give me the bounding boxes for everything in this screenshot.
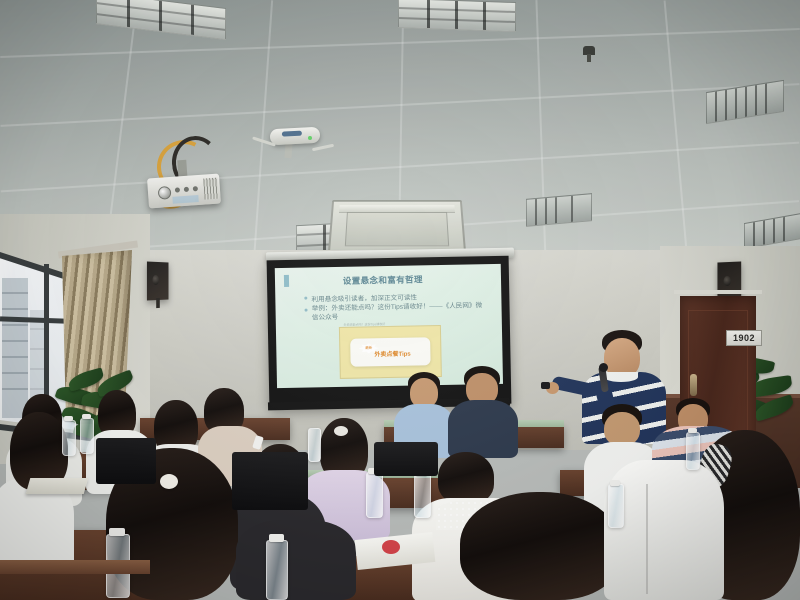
bottle-cap-6	[688, 428, 697, 433]
foreground-desk-surface	[0, 560, 150, 574]
wireless-access-point-icon	[270, 127, 321, 146]
water-bottle-3	[366, 472, 383, 518]
ceiling-air-vent-mid	[526, 193, 592, 227]
bottle-cap-2	[269, 534, 284, 542]
bottle-cap-8	[82, 414, 91, 419]
ceiling-air-vent-far-right	[744, 213, 800, 249]
shirt-seam	[646, 484, 648, 594]
ceiling-projector	[147, 174, 221, 209]
water-bottle-4	[414, 474, 431, 518]
wall-speaker-left	[147, 261, 169, 300]
water-bottle-8	[80, 418, 94, 454]
slide-bullet-1: 利用悬念吸引读者，加深正文可读性	[311, 292, 417, 304]
fire-sprinkler-icon	[583, 46, 595, 55]
chair-back-1	[232, 452, 308, 510]
slide-title: 设置悬念和富有哲理	[343, 274, 423, 288]
slide-figure-badge-text: 最新	[365, 346, 372, 351]
access-point-led	[308, 136, 312, 140]
building-far-1	[2, 278, 28, 418]
meeting-room-photo: 设置悬念和富有哲理 利用悬念吸引读者，加深正文可读性 举例：外卖还能点吗？这份T…	[0, 0, 800, 600]
slide-figure-card: 最新 外卖点餐Tips	[350, 337, 430, 367]
microphone-head-icon	[599, 363, 608, 372]
foreground-head-center	[460, 492, 620, 600]
room-number-sign: 1902	[726, 330, 762, 346]
notebook-on-desk	[26, 478, 89, 494]
water-bottle-5	[608, 484, 624, 528]
chair-back-3	[374, 442, 438, 476]
ceiling-light-top-center	[398, 0, 516, 32]
red-marker-icon	[382, 540, 400, 554]
presenter-collar	[604, 372, 638, 382]
room-number-text: 1902	[733, 333, 755, 343]
ceiling-light-left	[96, 0, 226, 40]
water-bottle-9	[308, 428, 321, 462]
door-frame	[674, 290, 762, 294]
slide-bullet-2: 举例：外卖还能点吗？这份Tips请收好！——《人民网》微信公众号	[312, 302, 489, 323]
ceiling-air-conditioner	[328, 200, 467, 256]
projector-lens-icon	[158, 186, 172, 200]
bottle-cap-5	[610, 480, 620, 486]
water-bottle-7	[62, 420, 76, 456]
water-bottle-6	[686, 432, 700, 470]
presentation-remote-icon[interactable]	[541, 382, 550, 389]
hair-tie	[334, 426, 348, 436]
bottle-cap-1	[109, 528, 125, 536]
door-handle[interactable]	[690, 374, 697, 396]
foreground-hair-tie-left	[160, 474, 178, 489]
slide-figure-caption: 外卖点餐Tips	[374, 349, 410, 359]
chair-back-2	[96, 438, 156, 484]
slide-accent-bar	[284, 275, 289, 287]
bottle-cap-7	[64, 416, 73, 421]
water-bottle-2	[266, 540, 288, 600]
